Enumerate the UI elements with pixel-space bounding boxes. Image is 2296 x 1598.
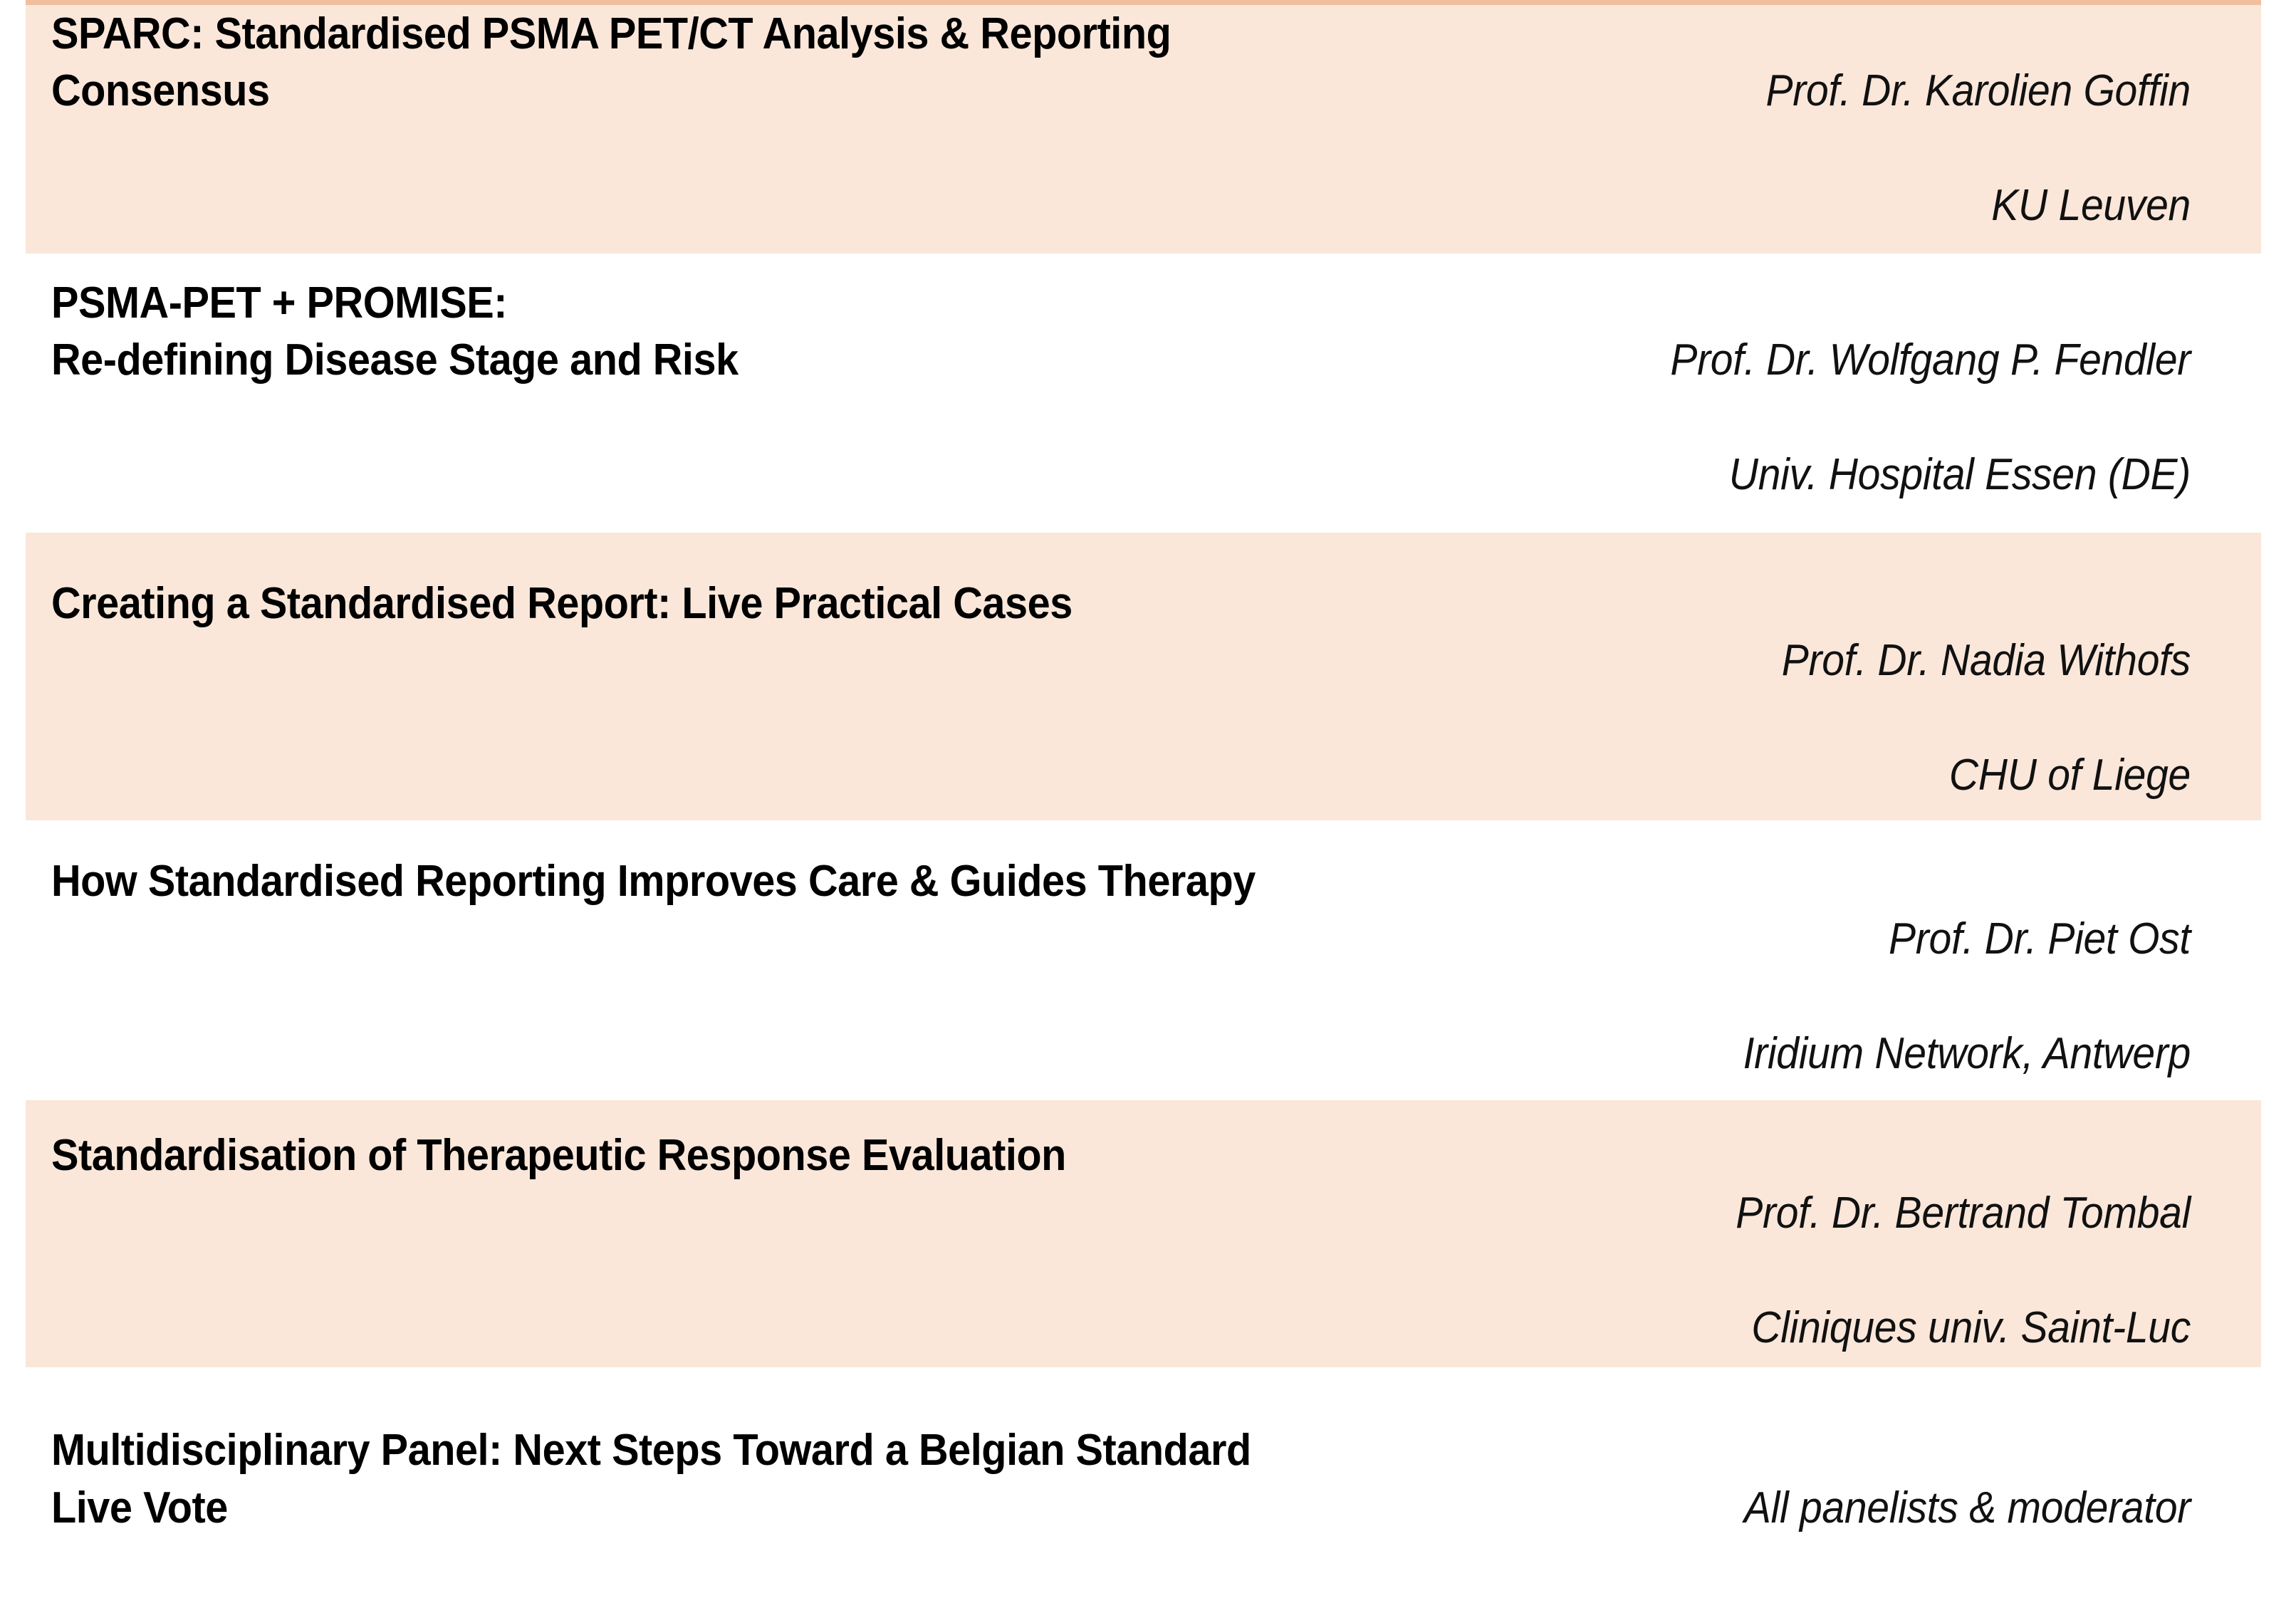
session-topic: Creating a Standardised Report: Live Pra… xyxy=(51,575,1502,633)
session-topic-line: Re-defining Disease Stage and Risk xyxy=(51,332,1502,390)
session-topic-line: Consensus xyxy=(51,63,1502,120)
session-topic: Multidisciplinary Panel: Next Steps Towa… xyxy=(51,1422,1502,1537)
session-topic-line: Creating a Standardised Report: Live Pra… xyxy=(51,575,1502,633)
session-topic-line: How Standardised Reporting Improves Care… xyxy=(51,853,1502,911)
speaker-name: Prof. Dr. Karolien Goffin xyxy=(1657,63,2191,120)
session-topic: Standardisation of Therapeutic Response … xyxy=(51,1127,1502,1185)
speaker-name: Prof. Dr. Bertrand Tombal xyxy=(1657,1185,2191,1243)
speaker-name: Prof. Dr. Nadia Withofs xyxy=(1657,632,2191,690)
session-topic: SPARC: Standardised PSMA PET/CT Analysis… xyxy=(51,6,1502,120)
session-topic-line: Multidisciplinary Panel: Next Steps Towa… xyxy=(51,1422,1502,1480)
speaker-name: All panelists & moderator xyxy=(1657,1480,2191,1537)
speaker-name: Prof. Dr. Wolfgang P. Fendler xyxy=(1657,332,2191,390)
session-speaker: All panelists & moderator xyxy=(1657,1422,2191,1594)
agenda-row: Standardisation of Therapeutic Response … xyxy=(0,1100,2296,1367)
agenda-table: SPARC: Standardised PSMA PET/CT Analysis… xyxy=(0,0,2296,1598)
session-topic-line: Standardisation of Therapeutic Response … xyxy=(51,1127,1502,1185)
speaker-name: Prof. Dr. Piet Ost xyxy=(1657,911,2191,968)
agenda-row: SPARC: Standardised PSMA PET/CT Analysis… xyxy=(0,0,2296,254)
speaker-affiliation: Cliniques univ. Saint-Luc xyxy=(1657,1300,2191,1357)
session-topic-line: Live Vote xyxy=(51,1480,1502,1537)
session-topic: PSMA-PET + PROMISE: Re-defining Disease … xyxy=(51,275,1502,390)
session-topic: How Standardised Reporting Improves Care… xyxy=(51,853,1502,911)
session-topic-line: SPARC: Standardised PSMA PET/CT Analysis… xyxy=(51,6,1502,63)
agenda-row: Creating a Standardised Report: Live Pra… xyxy=(0,533,2296,820)
top-rule-divider xyxy=(26,0,2261,5)
session-topic-line: PSMA-PET + PROMISE: xyxy=(51,275,1502,333)
agenda-row: Multidisciplinary Panel: Next Steps Towa… xyxy=(0,1367,2296,1598)
